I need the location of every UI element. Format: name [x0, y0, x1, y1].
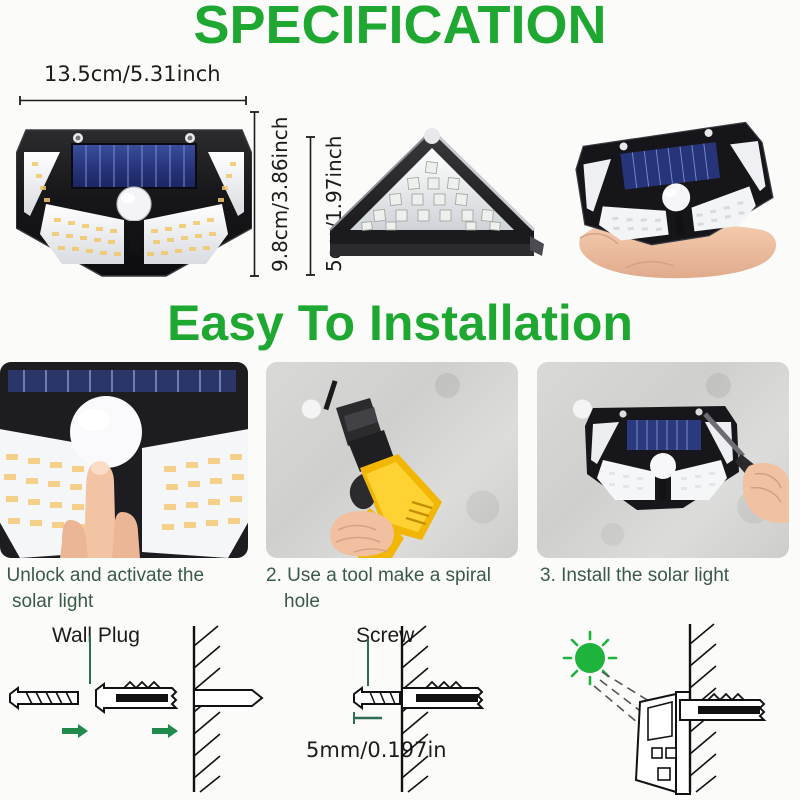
infographic-page: SPECIFICATION 13.5cm/5.31inch	[0, 0, 800, 800]
dimension-width-line	[18, 96, 248, 105]
step-2-caption: 2. Use a tool make a spiral hole	[266, 563, 516, 615]
dimension-width-label: 13.5cm/5.31inch	[44, 62, 221, 86]
wall-plug-diagram	[4, 616, 276, 800]
step-2-caption-line1: 2. Use a tool make a spiral	[266, 565, 491, 586]
mounted-lamp-sun-diagram	[548, 616, 800, 800]
dimension-height-label: 9.8cm/3.86inch	[268, 117, 292, 272]
step-1-caption-line2: solar light	[0, 589, 236, 615]
lamp-bottom-angle-view	[316, 118, 548, 276]
screw-diagram	[292, 616, 548, 800]
step-2-caption-line2: hole	[266, 589, 516, 615]
dimension-height-line	[250, 110, 259, 278]
lamp-hand-scale-view	[566, 118, 784, 284]
lamp-front-view	[16, 108, 252, 278]
step-1-caption: . Unlock and activate the solar light	[0, 563, 236, 615]
step-1-image	[0, 362, 248, 558]
step-2-image	[266, 362, 518, 558]
dimension-depth-line	[306, 135, 315, 277]
step-1-caption-line1: . Unlock and activate the	[0, 565, 204, 586]
step-3-caption-line1: 3. Install the solar light	[540, 565, 729, 586]
step-3-image	[537, 362, 789, 558]
page-title-specification: SPECIFICATION	[0, 0, 800, 56]
step-3-caption: 3. Install the solar light	[540, 563, 790, 589]
page-title-installation: Easy To Installation	[0, 294, 800, 352]
